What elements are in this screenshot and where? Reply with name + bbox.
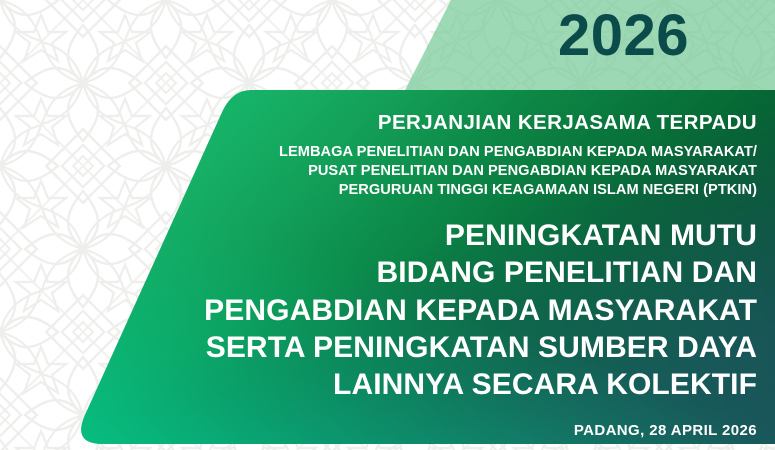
year-badge: 2026 [558, 7, 689, 65]
place-and-date: PADANG, 28 APRIL 2026 [117, 422, 757, 439]
headline-line: BIDANG PENELITIAN DAN [117, 254, 757, 291]
poster-canvas: 2026 [0, 0, 775, 450]
headline-line: PENGABDIAN KEPADA MASYARAKAT [117, 292, 757, 329]
poster-text-block: PERJANJIAN KERJASAMA TERPADU LEMBAGA PEN… [117, 112, 757, 439]
subtitle-line: LEMBAGA PENELITIAN DAN PENGABDIAN KEPADA… [117, 143, 757, 162]
headline-line: LAINNYA SECARA KOLEKTIF [117, 366, 757, 403]
subtitle-line: PERGURUAN TINGGI KEAGAMAAN ISLAM NEGERI … [117, 181, 757, 200]
agreement-kicker: PERJANJIAN KERJASAMA TERPADU [117, 112, 757, 135]
headline-line: SERTA PENINGKATAN SUMBER DAYA [117, 329, 757, 366]
subtitle-line: PUSAT PENELITIAN DAN PENGABDIAN KEPADA M… [117, 162, 757, 181]
headline-line: PENINGKATAN MUTU [117, 217, 757, 254]
institution-subtitle: LEMBAGA PENELITIAN DAN PENGABDIAN KEPADA… [117, 143, 757, 201]
main-headline: PENINGKATAN MUTU BIDANG PENELITIAN DAN P… [117, 217, 757, 403]
